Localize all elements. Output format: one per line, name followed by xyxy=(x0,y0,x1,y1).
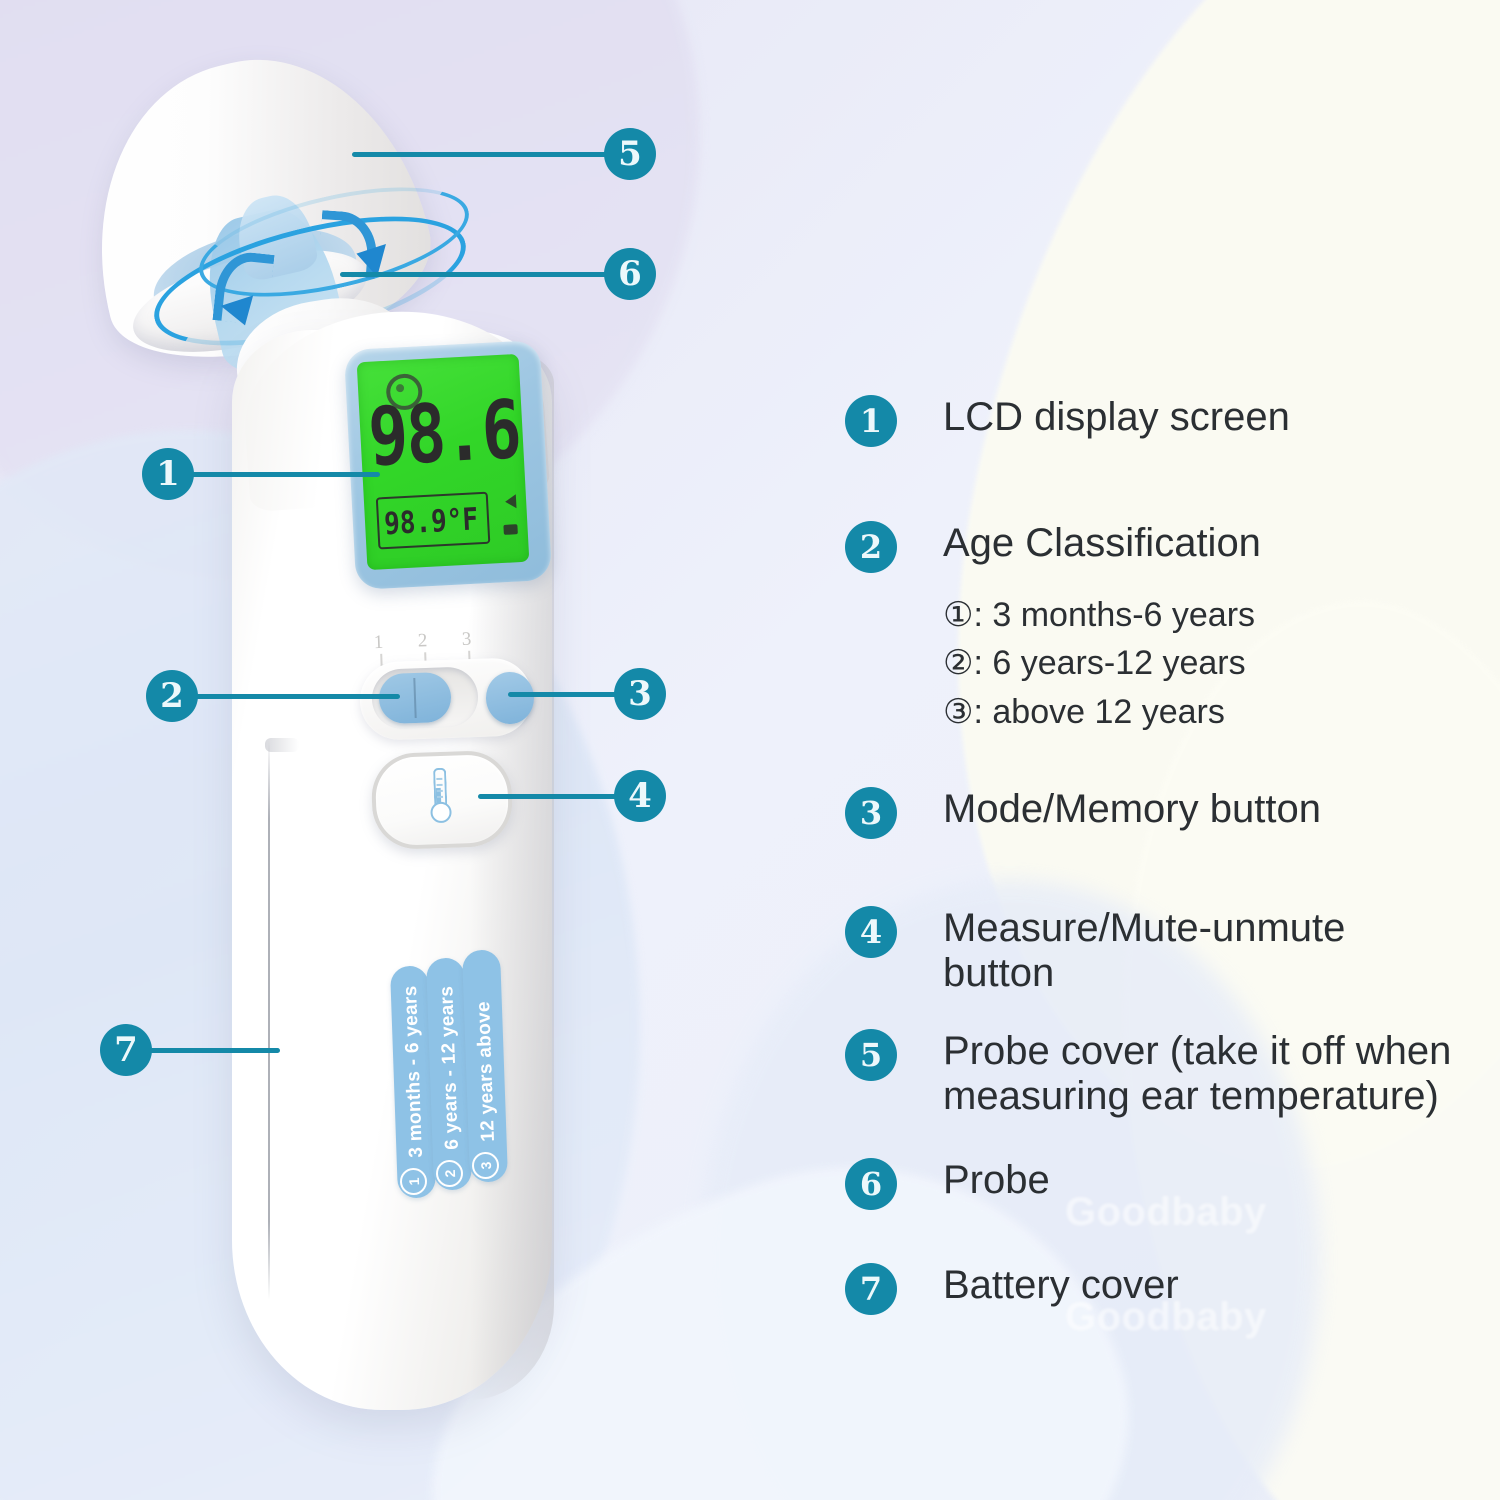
watermark-goodbaby-top: Goodbaby xyxy=(1065,1190,1267,1235)
leader-line-4 xyxy=(478,794,620,799)
callout-4: 4 xyxy=(614,770,666,822)
thermometer-tick-2 xyxy=(437,784,443,786)
callout-1: 1 xyxy=(142,448,194,500)
legend-number-6: 6 xyxy=(845,1158,897,1210)
leader-line-5 xyxy=(352,152,608,157)
legend-sub-item-1: ①: 3 months-6 years xyxy=(943,591,1255,639)
legend-number-7: 7 xyxy=(845,1263,897,1315)
legend-item-1: 1 LCD display screen xyxy=(845,395,1290,447)
legend-label-5: Probe cover (take it off when measuring … xyxy=(943,1029,1485,1119)
legend-item-7: 7 Battery cover xyxy=(845,1263,1179,1315)
callout-7: 7 xyxy=(100,1024,152,1076)
leader-line-2 xyxy=(192,694,400,699)
legend-label-2: Age Classification xyxy=(943,521,1261,566)
legend-item-3: 3 Mode/Memory button xyxy=(845,787,1321,839)
leader-line-3 xyxy=(508,692,618,697)
thermometer-illustration: 98.6 98.9°F 1 2 3 xyxy=(0,0,760,1500)
legend-item-4: 4 Measure/Mute-unmute button xyxy=(845,906,1413,996)
legend-item-6: 6 Probe xyxy=(845,1158,1050,1210)
legend-label-1: LCD display screen xyxy=(943,395,1290,440)
legend-number-3: 3 xyxy=(845,787,897,839)
lcd-sub-reading: 98.9°F xyxy=(378,496,484,549)
tick-label-1: 1 xyxy=(373,632,383,654)
legend-sublist-age-classification: ①: 3 months-6 years ②: 6 years-12 years … xyxy=(943,591,1255,736)
legend-label-6: Probe xyxy=(943,1158,1050,1203)
lcd-unit: F xyxy=(461,502,478,538)
battery-cover-notch xyxy=(265,738,299,752)
legend-label-7: Battery cover xyxy=(943,1263,1179,1308)
lcd-display-screen: 98.6 98.9°F xyxy=(357,354,530,570)
legend-label-3: Mode/Memory button xyxy=(943,787,1321,832)
lcd-main-reading: 98.6 xyxy=(367,390,519,478)
battery-cover-seam xyxy=(268,740,270,1300)
lcd-sub-value: 98.9 xyxy=(383,504,447,543)
legend-sub-item-3: ③: above 12 years xyxy=(943,688,1255,736)
leader-line-6 xyxy=(340,272,608,277)
callout-3: 3 xyxy=(614,668,666,720)
callout-5: 5 xyxy=(604,128,656,180)
legend-number-4: 4 xyxy=(845,906,897,958)
callout-2: 2 xyxy=(146,670,198,722)
legend-item-2: 2 Age Classification xyxy=(845,521,1261,573)
callout-6: 6 xyxy=(604,248,656,300)
thermometer-tick-1 xyxy=(436,778,442,780)
battery-icon xyxy=(503,524,518,535)
thermometer-tick-3 xyxy=(437,790,443,792)
leader-line-1 xyxy=(188,472,380,477)
legend-number-5: 5 xyxy=(845,1029,897,1081)
tick-label-2: 2 xyxy=(417,630,427,652)
thermometer-icon xyxy=(428,768,448,827)
legend-sub-item-2: ②: 6 years-12 years xyxy=(943,639,1255,687)
legend-label-4: Measure/Mute-unmute button xyxy=(943,906,1413,996)
legend-number-1: 1 xyxy=(845,395,897,447)
thermometer-tick-4 xyxy=(437,796,443,798)
legend-number-2: 2 xyxy=(845,521,897,573)
tick-label-3: 3 xyxy=(461,629,471,651)
speaker-icon xyxy=(505,494,517,509)
product-diagram: Goodbaby Goodbaby 98.6 98.9°F xyxy=(0,0,1500,1500)
leader-line-7 xyxy=(146,1048,280,1053)
legend-item-5: 5 Probe cover (take it off when measurin… xyxy=(845,1029,1485,1119)
